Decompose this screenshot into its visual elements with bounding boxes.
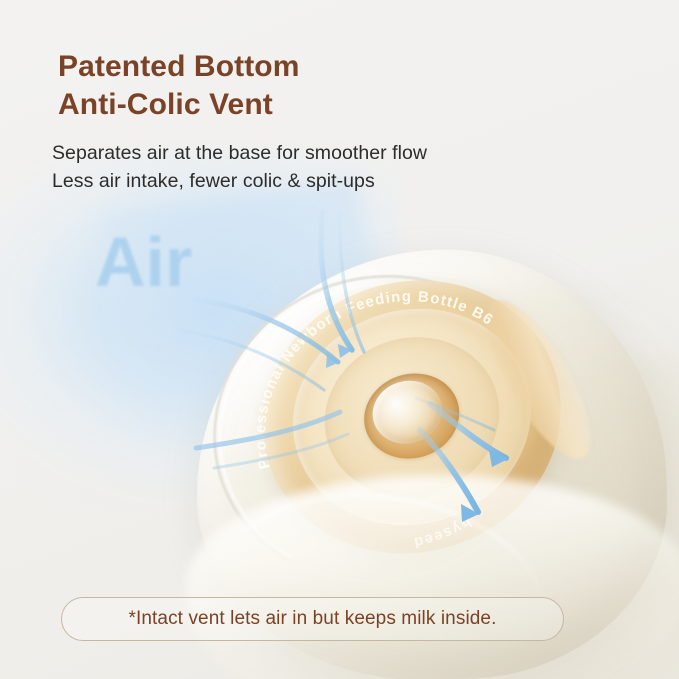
subtitle-line-2: Less air intake, fewer colic & spit-ups [52,168,427,196]
headline-line-1: Patented Bottom [58,48,300,86]
subtitle: Separates air at the base for smoother f… [52,140,427,195]
subtitle-line-1: Separates air at the base for smoother f… [52,140,427,168]
headline-line-2: Anti-Colic Vent [58,86,300,124]
footnote-text: *Intact vent lets air in but keeps milk … [129,608,497,630]
air-label: Air [95,227,192,297]
product-feature-image: Professional Newborn Feeding Bottle B6 h… [0,0,679,679]
page-title: Patented Bottom Anti-Colic Vent [58,48,300,125]
embossed-text-top: Professional Newborn Feeding Bottle B6 [219,261,520,471]
footnote-badge: *Intact vent lets air in but keeps milk … [61,597,564,641]
